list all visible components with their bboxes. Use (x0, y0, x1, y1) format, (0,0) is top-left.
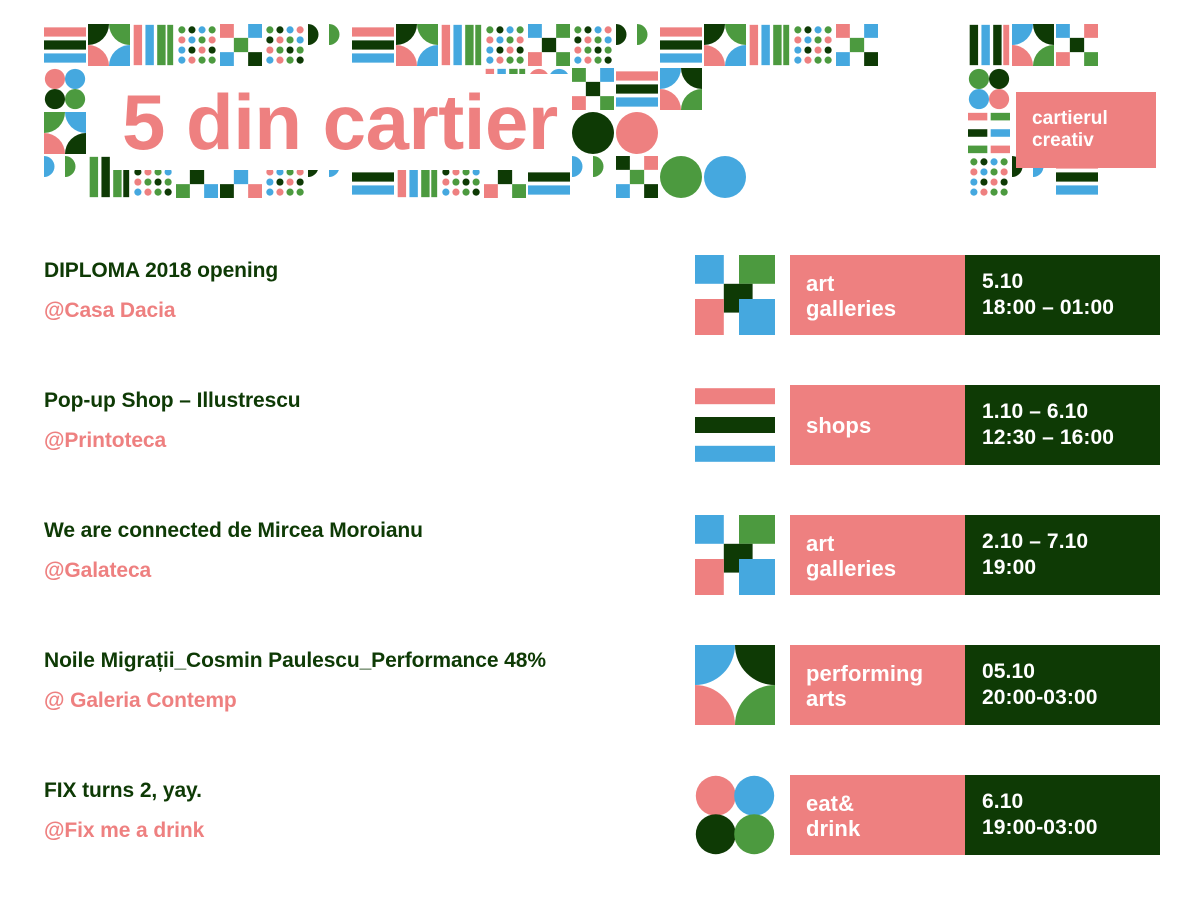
event-title: Pop-up Shop – Illustrescu (44, 388, 694, 414)
pattern-tile-petal-bd-pg (1012, 24, 1054, 66)
event-date: 5.10 (982, 269, 1160, 295)
pattern-tile-halfpill-d-g (308, 24, 350, 66)
event-schedule-badge: 1.10 – 6.1012:30 – 16:00 (965, 385, 1160, 465)
pattern-tile-petal-gb-pb (704, 24, 746, 66)
event-time: 20:00-03:00 (982, 685, 1160, 711)
logo-badge: cartierul creativ (1016, 92, 1156, 168)
event-venue: @Fix me a drink (44, 818, 694, 844)
event-category-line-1: eat& (806, 791, 965, 816)
event-text-block: FIX turns 2, yay.@Fix me a drink (44, 778, 694, 844)
pattern-tile-petal-pb-gd (660, 68, 702, 110)
event-venue: @Printoteca (44, 428, 694, 454)
pattern-tile-circles-pb-dg (44, 68, 86, 110)
event-category-line-2: arts (806, 686, 965, 711)
pattern-tile-cross-g-b-p (572, 68, 614, 110)
pattern-tile-cross-p-b-g (220, 24, 262, 66)
event-time: 12:30 – 16:00 (982, 425, 1160, 451)
pattern-tile-dots-a (792, 24, 834, 66)
event-row[interactable]: Pop-up Shop – Illustrescu@Printotecashop… (0, 360, 1200, 490)
pattern-tile-dots-b (264, 24, 306, 66)
brand-logo[interactable]: cartierul creativ (968, 24, 1156, 210)
event-venue: @Casa Dacia (44, 298, 694, 324)
pattern-tile-halfpill-d-g (616, 24, 658, 66)
event-glyph-three-bars-icon (695, 385, 775, 465)
event-text-block: We are connected de Mircea Moroianu@Gala… (44, 518, 694, 584)
pattern-tile-bars-p-d-b (660, 24, 702, 66)
event-glyph-four-circles-icon (695, 775, 775, 855)
event-row[interactable]: We are connected de Mircea Moroianu@Gala… (0, 490, 1200, 620)
pattern-tile-cross-p-b-g (836, 24, 878, 66)
pattern-tile-halfpill-b-g (44, 156, 86, 198)
event-text-block: DIPLOMA 2018 opening@Casa Dacia (44, 258, 694, 324)
event-glyph-checker-cross-icon (695, 255, 775, 335)
event-schedule-badge: 5.1018:00 – 01:00 (965, 255, 1160, 335)
pattern-tile-bars-mini (968, 112, 1010, 154)
event-time: 18:00 – 01:00 (982, 295, 1160, 321)
event-category-line-2: galleries (806, 296, 965, 321)
event-title: FIX turns 2, yay. (44, 778, 694, 804)
pattern-tile-petal-gb-pb (396, 24, 438, 66)
logo-name-line-2: creativ (1032, 130, 1156, 152)
event-title: DIPLOMA 2018 opening (44, 258, 694, 284)
pattern-tile-bars-p-d-b (616, 68, 658, 110)
pattern-tile-stripes-v-pbg (132, 24, 174, 66)
event-category-badge: eat&drink (790, 775, 965, 855)
event-title: We are connected de Mircea Moroianu (44, 518, 694, 544)
pattern-tile-dots-b (572, 24, 614, 66)
pattern-tile-bigcircle-p (616, 112, 658, 154)
pattern-tile-bars-p-d-b (352, 24, 394, 66)
event-category-badge: artgalleries (790, 515, 965, 595)
event-venue: @Galateca (44, 558, 694, 584)
event-category-line-1: art (806, 531, 965, 556)
event-schedule-badge: 2.10 – 7.1019:00 (965, 515, 1160, 595)
event-category-badge: performingarts (790, 645, 965, 725)
event-schedule-badge: 6.1019:00-03:00 (965, 775, 1160, 855)
event-text-block: Pop-up Shop – Illustrescu@Printoteca (44, 388, 694, 454)
event-category-line-2: galleries (806, 556, 965, 581)
pattern-tile-halfpill-b-g (572, 156, 614, 198)
pattern-tile-cross-b-d-p (1056, 24, 1098, 66)
poster-root: 5 din cartier cartierul creativ DIPLOMA … (0, 0, 1200, 900)
event-date: 1.10 – 6.10 (982, 399, 1160, 425)
event-category-line-1: shops (806, 413, 965, 438)
event-glyph-four-petal-icon (695, 645, 775, 725)
pattern-tile-circles-gd-bp (968, 68, 1010, 110)
pattern-tile-bars-p-d-b (44, 24, 86, 66)
pattern-tile-petal-gb-pd (44, 112, 86, 154)
event-glyph-checker-cross-icon (695, 515, 775, 595)
event-venue: @ Galeria Contemp (44, 688, 694, 714)
event-schedule-badge: 05.1020:00-03:00 (965, 645, 1160, 725)
pattern-tile-cross-b-g-p (528, 24, 570, 66)
event-date: 6.10 (982, 789, 1160, 815)
pattern-tile-stripes-v-pbg (440, 24, 482, 66)
pattern-tile-bigcircle-d (572, 112, 614, 154)
event-category-line-1: performing (806, 661, 965, 686)
pattern-tile-petal-gb-pb (88, 24, 130, 66)
event-time: 19:00 (982, 555, 1160, 581)
pattern-tile-stripes-v-dbp (968, 24, 1010, 66)
event-category-badge: shops (790, 385, 965, 465)
event-title: Noile Migrații_Cosmin Paulescu_Performan… (44, 648, 694, 674)
event-category-line-1: art (806, 271, 965, 296)
event-category-badge: artgalleries (790, 255, 965, 335)
event-category-line-2: drink (806, 816, 965, 841)
page-title: 5 din cartier (112, 74, 572, 170)
pattern-tile-dots-a (176, 24, 218, 66)
pattern-tile-dots-a (484, 24, 526, 66)
pattern-tile-stripes-v-pbg (748, 24, 790, 66)
event-date: 2.10 – 7.10 (982, 529, 1160, 555)
pattern-tile-bigcircle-g (660, 156, 702, 198)
event-time: 19:00-03:00 (982, 815, 1160, 841)
logo-name-line-1: cartierul (1032, 108, 1156, 130)
event-date: 05.10 (982, 659, 1160, 685)
event-row[interactable]: DIPLOMA 2018 opening@Casa Daciaartgaller… (0, 230, 1200, 360)
pattern-tile-dots-a (968, 156, 1010, 198)
pattern-tile-cross-d-p-b (616, 156, 658, 198)
event-row[interactable]: FIX turns 2, yay.@Fix me a drinkeat&drin… (0, 750, 1200, 880)
pattern-tile-bigcircle-b (704, 156, 746, 198)
event-row[interactable]: Noile Migrații_Cosmin Paulescu_Performan… (0, 620, 1200, 750)
event-text-block: Noile Migrații_Cosmin Paulescu_Performan… (44, 648, 694, 714)
